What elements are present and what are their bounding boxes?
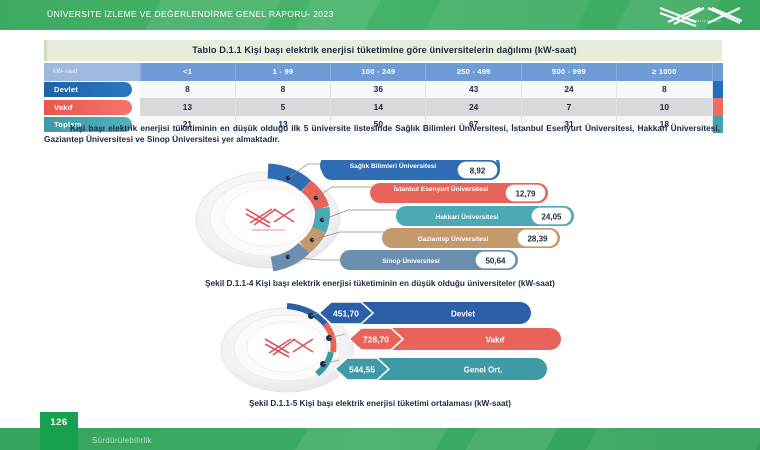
row-label-vakif: Vakıf bbox=[44, 100, 132, 115]
table-title: Tablo D.1.1 Kişi başı elektrik enerjisi … bbox=[44, 40, 722, 61]
cell: 8 bbox=[235, 81, 330, 99]
figure1-name-2: İstanbul Esenyurt Üniversitesi bbox=[394, 184, 489, 193]
figure1-name-5: Sinop Üniversitesi bbox=[382, 256, 440, 265]
report-page: ÜNİVERSİTE İZLEME VE DEĞERLENDİRME GENEL… bbox=[0, 0, 760, 450]
column-header: 100 - 249 bbox=[331, 63, 426, 81]
figure1-value-5: 50,64 bbox=[485, 257, 506, 266]
header-title: ÜNİVERSİTE İZLEME VE DEĞERLENDİRME GENEL… bbox=[47, 9, 334, 19]
figure1-pill-4: Gaziantep Üniversitesi 28,39 bbox=[382, 228, 560, 248]
row-label-cell: Devlet bbox=[44, 81, 140, 99]
figure2-name-2: Vakıf bbox=[486, 336, 505, 345]
yok-logo-icon bbox=[656, 4, 742, 28]
column-header: <1 bbox=[140, 63, 235, 81]
footer-streak bbox=[573, 428, 760, 450]
cell: 10 bbox=[617, 98, 712, 116]
page-number: 126 bbox=[40, 412, 78, 450]
figure1-value-2: 12,79 bbox=[515, 190, 536, 199]
page-header: ÜNİVERSİTE İZLEME VE DEĞERLENDİRME GENEL… bbox=[0, 0, 760, 30]
figure2-value-3: 544,55 bbox=[349, 365, 375, 375]
table-block: Tablo D.1.1 Kişi başı elektrik enerjisi … bbox=[44, 40, 722, 133]
figure2-name-1: Devlet bbox=[451, 310, 475, 319]
figure1-pill-1: Sağlık Bilimleri Üniversitesi 8,92 bbox=[322, 160, 500, 180]
row-label-cell: Vakıf bbox=[44, 98, 140, 116]
cell: 24 bbox=[426, 98, 521, 116]
footer-section-label: Sürdürülebilirlik bbox=[92, 436, 152, 445]
footer-streak bbox=[453, 428, 568, 450]
table-row: Vakıf 13 5 14 24 7 10 bbox=[44, 98, 722, 116]
cell: 24 bbox=[521, 81, 616, 99]
column-header: ≥ 1000 bbox=[617, 63, 712, 81]
figure2-value-2: 728,70 bbox=[363, 335, 389, 345]
row-cap bbox=[712, 81, 722, 99]
column-header: 1 - 99 bbox=[235, 63, 330, 81]
cell: 8 bbox=[140, 81, 235, 99]
row-label-devlet: Devlet bbox=[44, 82, 132, 97]
figure1-value-3: 24,05 bbox=[541, 213, 562, 222]
footer-streak bbox=[283, 428, 458, 450]
figure2-value-1: 451,70 bbox=[333, 309, 359, 319]
figure1-name-1: Sağlık Bilimleri Üniversitesi bbox=[350, 161, 437, 170]
figure1-pill-5: Sinop Üniversitesi 50,64 bbox=[340, 250, 518, 270]
page-footer: Sürdürülebilirlik bbox=[0, 428, 760, 450]
table-header-row: kW-saat <1 1 - 99 100 - 249 250 - 499 50… bbox=[44, 63, 722, 81]
figure-2-caption: Şekil D.1.1-5 Kişi başı elektrik enerjis… bbox=[0, 399, 760, 408]
figure2-name-3: Genel Ort. bbox=[464, 366, 503, 375]
row-cap bbox=[712, 98, 722, 116]
figure1-name-3: Hakkari Üniversitesi bbox=[435, 212, 498, 221]
figure1-pill-2: İstanbul Esenyurt Üniversitesi 12,79 bbox=[370, 183, 548, 203]
header-streak bbox=[409, 0, 602, 30]
cell: 43 bbox=[426, 81, 521, 99]
column-header: 250 - 499 bbox=[426, 63, 521, 81]
figure-2-donut-chart: Devlet 451,70 Vakıf 728,70 Genel Ort. 54… bbox=[205, 302, 575, 394]
figure1-value-1: 8,92 bbox=[470, 167, 486, 176]
figure2-pill-3: Genel Ort. 544,55 bbox=[335, 358, 547, 380]
figure1-name-4: Gaziantep Üniversitesi bbox=[418, 234, 489, 243]
cell: 36 bbox=[331, 81, 426, 99]
figure-1-donut-chart: YÜKSEKÖĞRETİM KURULU bbox=[180, 160, 580, 275]
column-header: 500 - 999 bbox=[521, 63, 616, 81]
figure1-pill-3: Hakkari Üniversitesi 24,05 bbox=[396, 206, 574, 226]
figure1-value-4: 28,39 bbox=[527, 235, 548, 244]
logo-subtitle: YÜKSEKÖĞRETİM KURULU bbox=[656, 20, 742, 23]
cell: 14 bbox=[331, 98, 426, 116]
cell: 5 bbox=[235, 98, 330, 116]
body-paragraph: Kişi başı elektrik enerjisi tüketiminin … bbox=[44, 123, 720, 146]
cell: 13 bbox=[140, 98, 235, 116]
column-header-unit: kW-saat bbox=[44, 63, 140, 81]
figure2-pill-2: Vakıf 728,70 bbox=[349, 328, 561, 350]
cell: 8 bbox=[617, 81, 712, 99]
header-cap bbox=[712, 63, 722, 81]
cell: 7 bbox=[521, 98, 616, 116]
figure-1-caption: Şekil D.1.1-4 Kişi başı elektrik enerjis… bbox=[0, 279, 760, 288]
figure2-pill-1: Devlet 451,70 bbox=[319, 302, 531, 324]
table-row: Devlet 8 8 36 43 24 8 bbox=[44, 81, 722, 99]
